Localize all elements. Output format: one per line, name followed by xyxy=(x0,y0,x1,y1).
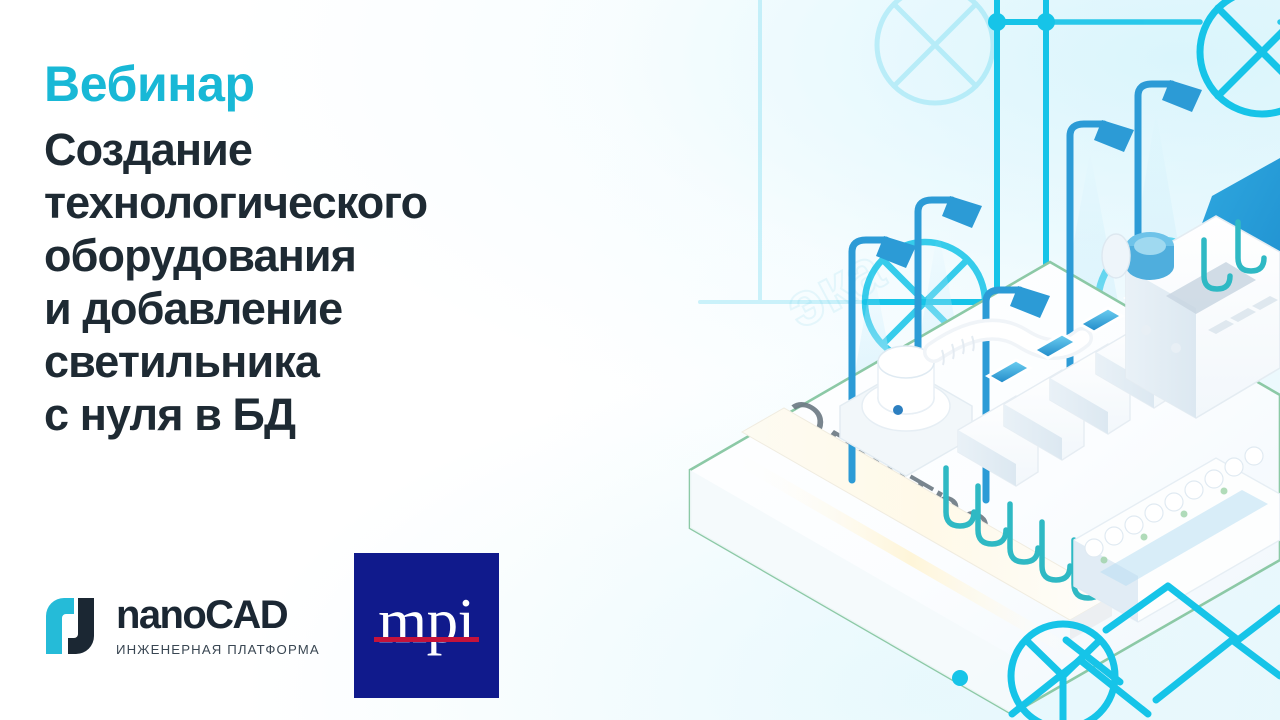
wire-junction-dots xyxy=(988,13,1055,311)
lamp-symbol-3 xyxy=(865,242,985,362)
kicker-label: Вебинар xyxy=(44,58,660,111)
street-lamp-1 xyxy=(852,236,916,480)
nanocad-wordmark: nanoCAD ИНЖЕНЕРНАЯ ПЛАТФОРМА xyxy=(116,595,320,657)
blue-wedge-accent xyxy=(1188,158,1280,330)
headline-line-5: светильника xyxy=(44,335,654,388)
circuit-breaker-bank xyxy=(946,256,1222,598)
mpi-wordmark: mpi xyxy=(378,590,475,653)
lamp-symbol-4 xyxy=(1098,240,1222,364)
contactor-coil xyxy=(1102,232,1174,280)
logo-row: nanoCAD ИНЖЕНЕРНАЯ ПЛАТФОРМА mpi xyxy=(44,553,499,698)
right-module-wires xyxy=(1204,222,1264,289)
round-switch-module xyxy=(840,330,1082,476)
headline-line-6: с нуля в БД xyxy=(44,388,654,441)
svg-text:Электро: Электро xyxy=(765,384,1006,563)
page-title: Создание технологического оборудования и… xyxy=(44,123,654,442)
headline-line-4: и добавление xyxy=(44,282,654,335)
terminal-block xyxy=(1074,447,1280,622)
din-rail-tray xyxy=(742,408,1112,640)
red-underline-rule-icon xyxy=(374,637,479,642)
nanocad-r-j-mark-icon xyxy=(44,596,102,656)
headline-line-1: Создание xyxy=(44,123,654,176)
lamp-symbol-2 xyxy=(1200,0,1280,114)
plate-label: Электро xyxy=(765,384,1006,563)
street-lamp-3 xyxy=(986,286,1050,500)
nanocad-tagline: ИНЖЕНЕРНАЯ ПЛАТФОРМА xyxy=(116,642,320,657)
lamp-symbol-5 xyxy=(869,484,981,596)
lamp-symbol-1 xyxy=(877,0,993,103)
nanocad-logo: nanoCAD ИНЖЕНЕРНАЯ ПЛАТФОРМА xyxy=(44,595,320,657)
headline-line-3: оборудования xyxy=(44,229,654,282)
street-lamp-4 xyxy=(1070,120,1134,408)
isometric-base-plate xyxy=(690,262,1280,714)
breaker-levers xyxy=(988,256,1214,384)
banner-canvas: эка xyxy=(0,0,1280,720)
mpi-logo: mpi xyxy=(354,553,499,698)
street-lamps xyxy=(852,80,1202,500)
nanocad-name: nanoCAD xyxy=(116,595,320,635)
lamp-symbol-6 xyxy=(1011,624,1115,720)
svg-text:эка: эка xyxy=(774,234,895,342)
schematic-wires xyxy=(700,0,1280,596)
ghost-text: эка xyxy=(774,234,895,342)
street-lamp-5 xyxy=(1138,80,1202,388)
headline-line-2: технологического xyxy=(44,176,654,229)
light-cones xyxy=(838,112,1206,470)
breaker-wires xyxy=(946,468,1102,598)
street-lamp-2 xyxy=(918,196,982,452)
foreground-wires xyxy=(1012,586,1280,714)
meter-module xyxy=(1102,216,1280,418)
